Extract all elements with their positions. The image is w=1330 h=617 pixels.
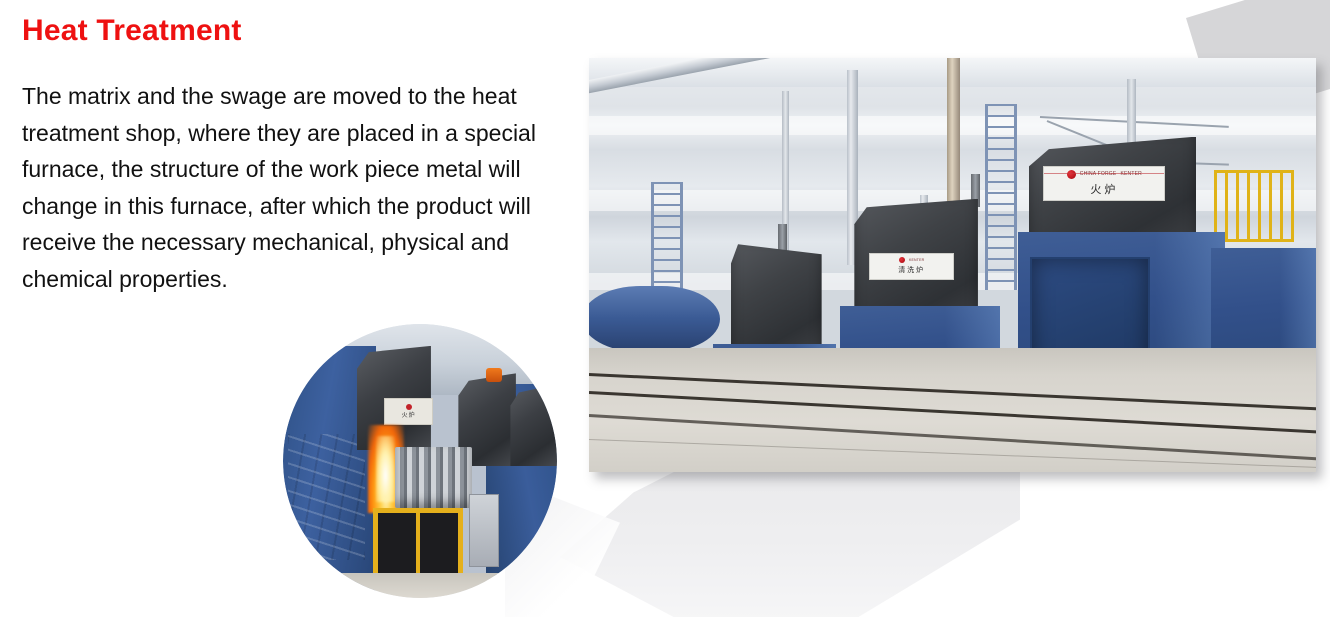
sign-brand-label: KENTER [909,259,924,263]
pipework-cluster [288,434,365,560]
workshop-scene: CHINA FORGE KENTER 火炉 KENTER 清洗炉 [589,58,1316,472]
sign-chinese-label: 火炉 [402,410,416,419]
control-panel [469,494,498,567]
furnace-nameplate-inset: 火炉 [384,398,433,425]
sign-brand-row: CHINA FORGE KENTER [1067,170,1142,179]
page-title: Heat Treatment [22,13,242,49]
furnace-hood [510,384,557,466]
blue-pressure-tank [589,286,720,352]
sign-chinese-label: 火炉 [1090,181,1118,197]
sign-chinese-label: 清洗炉 [898,265,925,275]
section-body-text: The matrix and the swage are moved to th… [22,78,562,297]
hot-work-pieces [395,447,472,507]
yellow-safety-railing [1214,170,1294,242]
company-logo-icon [899,257,905,263]
flame-scene: 火炉 [283,324,557,598]
workshop-floor [283,573,557,598]
sign-brand-row: KENTER [899,257,924,263]
furnace-flame-inset-photo: 火炉 [283,324,557,598]
sign-red-line [1044,173,1164,174]
furnace-stack [778,224,787,253]
grey-chevron-polygon-icon [560,455,1020,617]
yellow-safety-cage [373,508,462,584]
access-ladder [985,104,1017,290]
heat-treatment-workshop-photo: CHINA FORGE KENTER 火炉 KENTER 清洗炉 [589,58,1316,472]
furnace-nameplate-main: CHINA FORGE KENTER 火炉 [1043,166,1165,201]
slide-root: Heat Treatment The matrix and the swage … [0,0,1330,617]
furnace-nameplate-secondary: KENTER 清洗炉 [869,253,955,281]
furnace-flame-core [376,436,395,502]
company-logo-icon [1067,170,1076,179]
orange-equipment-part [486,368,502,382]
